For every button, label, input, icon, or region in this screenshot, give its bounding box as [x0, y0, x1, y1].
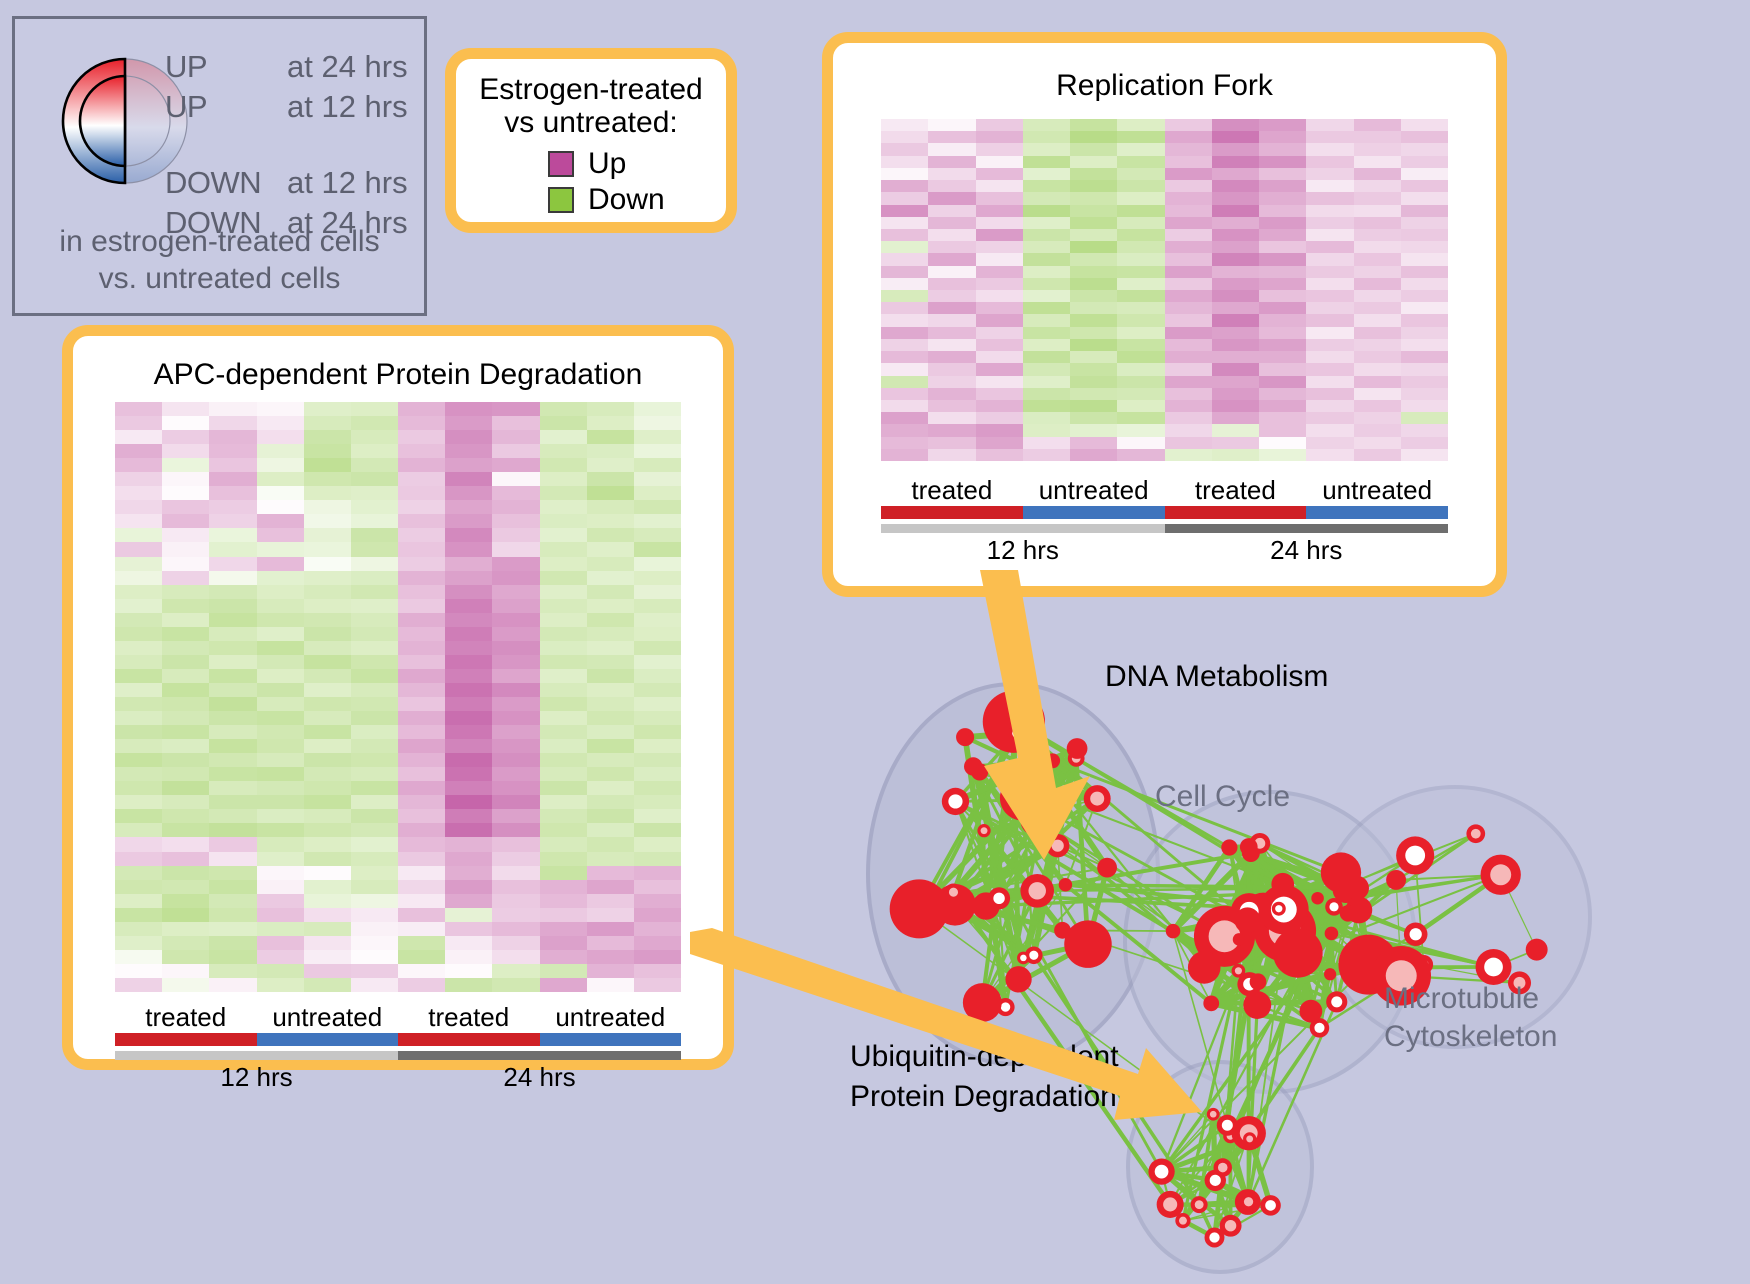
heatmap-cell — [634, 697, 681, 711]
heatmap-cell — [1306, 217, 1353, 229]
heatmap-cell — [1259, 278, 1306, 290]
heatmap-cell — [634, 739, 681, 753]
heatmap-cell — [1401, 327, 1448, 339]
network-node-core — [1410, 928, 1422, 940]
heatmap-cell — [587, 880, 634, 894]
heatmap-cell — [351, 528, 398, 542]
condition-label: untreated — [1023, 475, 1165, 506]
heatmap-cell — [634, 866, 681, 880]
heatmap-cell — [587, 571, 634, 585]
heatmap-cell — [587, 781, 634, 795]
heatmap-cell — [257, 402, 304, 416]
network-node-core — [1163, 1197, 1177, 1211]
heatmap-cell — [209, 908, 256, 922]
heatmap-cell — [1023, 229, 1070, 241]
network-node[interactable] — [1311, 892, 1324, 905]
heatmap-cell — [634, 852, 681, 866]
heatmap-cell — [209, 585, 256, 599]
heatmap-cell — [634, 978, 681, 992]
heatmap-cell — [1306, 290, 1353, 302]
heatmap-cell — [881, 376, 928, 388]
heatmap-cell — [398, 500, 445, 514]
network-node-core — [1179, 1217, 1187, 1225]
heatmap-cell — [492, 697, 539, 711]
heatmap-cell — [162, 571, 209, 585]
heatmap-cell — [1212, 229, 1259, 241]
heatmap-cell — [445, 528, 492, 542]
heatmap-cell — [115, 655, 162, 669]
network-node[interactable] — [1386, 870, 1406, 890]
condition-label: untreated — [540, 1002, 682, 1033]
heatmap-cell — [304, 641, 351, 655]
heatmap-cell — [1165, 388, 1212, 400]
heatmap-cell — [634, 402, 681, 416]
replication-fork-condition-bar — [881, 506, 1448, 519]
network-node-core — [1218, 1163, 1228, 1173]
heatmap-cell — [492, 964, 539, 978]
heatmap-cell — [398, 444, 445, 458]
heatmap-cell — [398, 894, 445, 908]
heatmap-cell — [1259, 424, 1306, 436]
network-node-core — [1471, 829, 1481, 839]
heatmap-cell — [1306, 424, 1353, 436]
heatmap-cell — [1354, 376, 1401, 388]
heatmap-cell — [257, 627, 304, 641]
heatmap-cell — [928, 266, 975, 278]
heatmap-cell — [115, 767, 162, 781]
heatmap-cell — [976, 278, 1023, 290]
heatmap-cell — [1165, 143, 1212, 155]
heatmap-cell — [587, 599, 634, 613]
heatmap-cell — [209, 627, 256, 641]
heatmap-cell — [928, 192, 975, 204]
heatmap-cell — [1259, 180, 1306, 192]
heatmap-cell — [881, 217, 928, 229]
heatmap-cell — [1117, 314, 1164, 326]
heatmap-cell — [115, 711, 162, 725]
heatmap-cell — [1165, 412, 1212, 424]
heatmap-cell — [115, 894, 162, 908]
heatmap-cell — [1023, 339, 1070, 351]
heatmap-cell — [257, 669, 304, 683]
heatmap-cell — [209, 444, 256, 458]
heatmap-cell — [540, 416, 587, 430]
condition-bar-segment — [881, 506, 1023, 519]
heatmap-cell — [115, 430, 162, 444]
heatmap-cell — [445, 641, 492, 655]
heatmap-cell — [1306, 437, 1353, 449]
heatmap-cell — [1354, 278, 1401, 290]
heatmap-cell — [1023, 131, 1070, 143]
heatmap-cell — [1212, 217, 1259, 229]
heatmap-cell — [587, 416, 634, 430]
heatmap-cell — [115, 809, 162, 823]
heatmap-cell — [1070, 180, 1117, 192]
heatmap-cell — [351, 795, 398, 809]
heatmap-cell — [1117, 376, 1164, 388]
heatmap-cell — [881, 266, 928, 278]
heatmap-cell — [587, 711, 634, 725]
heatmap-cell — [881, 437, 928, 449]
heatmap-cell — [304, 767, 351, 781]
heatmap-cell — [351, 978, 398, 992]
heatmap-cell — [257, 880, 304, 894]
heatmap-cell — [587, 627, 634, 641]
apc-time-labels: 12 hrs24 hrs — [115, 1062, 681, 1093]
color-key-direction: UP — [165, 49, 287, 85]
heatmap-cell — [587, 936, 634, 950]
heatmap-cell — [1117, 449, 1164, 461]
heatmap-cell — [1023, 253, 1070, 265]
heatmap-cell — [634, 795, 681, 809]
heatmap-cell — [1070, 290, 1117, 302]
heatmap-cell — [1401, 241, 1448, 253]
heatmap-cell — [351, 767, 398, 781]
heatmap-cell — [257, 486, 304, 500]
heatmap-cell — [1306, 314, 1353, 326]
heatmap-cell — [492, 585, 539, 599]
heatmap-cell — [881, 192, 928, 204]
heatmap-cell — [162, 837, 209, 851]
heatmap-cell — [209, 528, 256, 542]
heatmap-cell — [115, 627, 162, 641]
heatmap-cell — [492, 894, 539, 908]
heatmap-cell — [1354, 253, 1401, 265]
heatmap-cell — [540, 852, 587, 866]
heatmap-cell — [928, 253, 975, 265]
heatmap-cell — [1023, 119, 1070, 131]
heatmap-cell — [257, 908, 304, 922]
heatmap-cell — [115, 486, 162, 500]
heatmap-cell — [928, 241, 975, 253]
network-node-core — [1331, 996, 1342, 1007]
heatmap-cell — [115, 795, 162, 809]
heatmap-cell — [304, 458, 351, 472]
heatmap-cell — [445, 472, 492, 486]
heatmap-cell — [1212, 143, 1259, 155]
heatmap-cell — [634, 599, 681, 613]
heatmap-cell — [257, 823, 304, 837]
heatmap-cell — [351, 571, 398, 585]
legend-label-down: Down — [588, 183, 665, 217]
heatmap-cell — [209, 880, 256, 894]
network-node[interactable] — [1526, 939, 1548, 961]
heatmap-cell — [492, 683, 539, 697]
heatmap-cell — [976, 143, 1023, 155]
heatmap-cell — [257, 458, 304, 472]
heatmap-cell — [257, 416, 304, 430]
heatmap-cell — [398, 528, 445, 542]
heatmap-cell — [634, 416, 681, 430]
heatmap-cell — [1023, 302, 1070, 314]
heatmap-cell — [257, 781, 304, 795]
heatmap-cell — [162, 528, 209, 542]
replication-fork-time-bar — [881, 524, 1448, 533]
heatmap-cell — [304, 866, 351, 880]
heatmap-cell — [209, 753, 256, 767]
heatmap-cell — [1306, 143, 1353, 155]
heatmap-cell — [881, 143, 928, 155]
heatmap-cell — [587, 697, 634, 711]
heatmap-cell — [398, 585, 445, 599]
network-node[interactable] — [1059, 878, 1072, 891]
heatmap-cell — [1354, 351, 1401, 363]
heatmap-cell — [1070, 412, 1117, 424]
heatmap-cell — [304, 950, 351, 964]
heatmap-cell — [115, 458, 162, 472]
heatmap-cell — [1401, 437, 1448, 449]
heatmap-cell — [1212, 241, 1259, 253]
heatmap-cell — [115, 697, 162, 711]
legend-item-up: Up — [548, 146, 726, 182]
heatmap-cell — [540, 767, 587, 781]
heatmap-cell — [1212, 424, 1259, 436]
heatmap-cell — [351, 866, 398, 880]
network-node[interactable] — [1273, 928, 1323, 978]
heatmap-cell — [492, 837, 539, 851]
heatmap-cell — [634, 430, 681, 444]
heatmap-cell — [257, 641, 304, 655]
heatmap-cell — [115, 922, 162, 936]
heatmap-cell — [398, 416, 445, 430]
heatmap-cell — [540, 837, 587, 851]
heatmap-cell — [1212, 363, 1259, 375]
color-key-footer-line2: vs. untreated cells — [15, 261, 424, 298]
condition-bar-segment — [1023, 506, 1165, 519]
heatmap-cell — [634, 767, 681, 781]
heatmap-cell — [1070, 327, 1117, 339]
heatmap-cell — [587, 964, 634, 978]
heatmap-cell — [881, 119, 928, 131]
heatmap-cell — [1165, 363, 1212, 375]
network-node[interactable] — [1221, 839, 1237, 855]
heatmap-cell — [398, 781, 445, 795]
apc-time-bar — [115, 1051, 681, 1060]
heatmap-cell — [492, 599, 539, 613]
heatmap-cell — [928, 437, 975, 449]
heatmap-cell — [304, 486, 351, 500]
heatmap-cell — [257, 613, 304, 627]
heatmap-cell — [445, 613, 492, 627]
heatmap-cell — [587, 514, 634, 528]
heatmap-cell — [445, 402, 492, 416]
heatmap-cell — [1212, 400, 1259, 412]
heatmap-cell — [1259, 156, 1306, 168]
heatmap-cell — [634, 669, 681, 683]
heatmap-cell — [398, 964, 445, 978]
heatmap-cell — [1259, 437, 1306, 449]
heatmap-cell — [928, 363, 975, 375]
heatmap-cell — [351, 585, 398, 599]
color-key-box: UP at 24 hrs UP at 12 hrs DOWN at 12 hrs… — [12, 16, 427, 316]
heatmap-cell — [351, 641, 398, 655]
heatmap-cell — [1165, 266, 1212, 278]
time-label: 24 hrs — [1165, 535, 1449, 566]
heatmap-cell — [1401, 180, 1448, 192]
heatmap-cell — [1401, 217, 1448, 229]
network-node[interactable] — [1345, 876, 1369, 900]
heatmap-cell — [257, 725, 304, 739]
heatmap-cell — [1306, 388, 1353, 400]
heatmap-cell — [304, 557, 351, 571]
heatmap-cell — [540, 908, 587, 922]
heatmap-cell — [209, 514, 256, 528]
heatmap-cell — [976, 412, 1023, 424]
heatmap-cell — [634, 542, 681, 556]
heatmap-cell — [928, 327, 975, 339]
heatmap-cell — [1165, 314, 1212, 326]
heatmap-cell — [398, 669, 445, 683]
heatmap-cell — [881, 302, 928, 314]
legend-item-down: Down — [548, 182, 726, 218]
heatmap-cell — [1212, 156, 1259, 168]
heatmap-cell — [1023, 351, 1070, 363]
heatmap-cell — [1165, 278, 1212, 290]
heatmap-cell — [257, 585, 304, 599]
heatmap-cell — [634, 613, 681, 627]
heatmap-cell — [1354, 437, 1401, 449]
heatmap-cell — [1117, 339, 1164, 351]
heatmap-cell — [162, 627, 209, 641]
heatmap-cell — [1212, 437, 1259, 449]
heatmap-cell — [351, 486, 398, 500]
heatmap-cell — [445, 922, 492, 936]
heatmap-cell — [445, 894, 492, 908]
heatmap-cell — [492, 486, 539, 500]
heatmap-cell — [1259, 339, 1306, 351]
heatmap-cell — [115, 936, 162, 950]
heatmap-cell — [351, 500, 398, 514]
heatmap-cell — [976, 290, 1023, 302]
network-node[interactable] — [1240, 838, 1258, 856]
heatmap-cell — [1212, 192, 1259, 204]
heatmap-cell — [976, 302, 1023, 314]
heatmap-cell — [304, 500, 351, 514]
heatmap-cell — [398, 458, 445, 472]
heatmap-cell — [1212, 205, 1259, 217]
heatmap-cell — [634, 823, 681, 837]
heatmap-cell — [209, 711, 256, 725]
heatmap-cell — [1117, 351, 1164, 363]
network-node[interactable] — [1250, 973, 1267, 990]
color-key-rows: UP at 24 hrs UP at 12 hrs DOWN at 12 hrs… — [165, 49, 408, 245]
network-node[interactable] — [1299, 1000, 1322, 1023]
heatmap-cell — [587, 402, 634, 416]
network-node[interactable] — [1340, 905, 1357, 922]
heatmap-cell — [976, 180, 1023, 192]
heatmap-cell — [1401, 412, 1448, 424]
heatmap-cell — [881, 449, 928, 461]
heatmap-cell — [540, 880, 587, 894]
heatmap-cell — [492, 753, 539, 767]
heatmap-cell — [209, 950, 256, 964]
heatmap-cell — [540, 500, 587, 514]
heatmap-cell — [209, 683, 256, 697]
heatmap-cell — [1354, 339, 1401, 351]
heatmap-cell — [162, 908, 209, 922]
heatmap-cell — [634, 585, 681, 599]
heatmap-cell — [445, 795, 492, 809]
heatmap-cell — [587, 753, 634, 767]
network-node[interactable] — [1324, 968, 1336, 980]
heatmap-cell — [492, 978, 539, 992]
heatmap-cell — [1212, 131, 1259, 143]
heatmap-cell — [209, 458, 256, 472]
heatmap-cell — [928, 424, 975, 436]
heatmap-cell — [351, 669, 398, 683]
heatmap-cell — [398, 866, 445, 880]
cluster-label-microtubule-line2: Cytoskeleton — [1384, 1020, 1557, 1054]
heatmap-cell — [445, 964, 492, 978]
heatmap-cell — [351, 458, 398, 472]
heatmap-cell — [1259, 168, 1306, 180]
heatmap-cell — [540, 528, 587, 542]
heatmap-cell — [398, 725, 445, 739]
replication-fork-time-labels: 12 hrs24 hrs — [881, 535, 1448, 566]
heatmap-cell — [540, 936, 587, 950]
network-node-core — [1329, 902, 1338, 911]
heatmap-cell — [162, 894, 209, 908]
heatmap-cell — [587, 837, 634, 851]
heatmap-cell — [587, 725, 634, 739]
heatmap-cell — [928, 229, 975, 241]
heatmap-cell — [398, 472, 445, 486]
heatmap-cell — [351, 823, 398, 837]
heatmap-cell — [1212, 290, 1259, 302]
heatmap-cell — [1401, 192, 1448, 204]
heatmap-cell — [398, 936, 445, 950]
heatmap-cell — [398, 908, 445, 922]
heatmap-cell — [1023, 217, 1070, 229]
network-node[interactable] — [1325, 927, 1339, 941]
heatmap-cell — [257, 894, 304, 908]
heatmap-cell — [1165, 131, 1212, 143]
heatmap-cell — [881, 314, 928, 326]
heatmap-cell — [1070, 314, 1117, 326]
heatmap-cell — [1070, 376, 1117, 388]
heatmap-cell — [976, 253, 1023, 265]
heatmap-cell — [304, 627, 351, 641]
heatmap-cell — [209, 767, 256, 781]
heatmap-cell — [351, 514, 398, 528]
heatmap-cell — [1212, 351, 1259, 363]
heatmap-cell — [209, 739, 256, 753]
network-node-core — [1209, 1232, 1219, 1242]
heatmap-cell — [1306, 253, 1353, 265]
heatmap-cell — [162, 809, 209, 823]
heatmap-cell — [445, 781, 492, 795]
heatmap-cell — [540, 809, 587, 823]
apc-degradation-heatmap — [115, 402, 681, 992]
heatmap-cell — [1259, 400, 1306, 412]
heatmap-cell — [162, 922, 209, 936]
heatmap-cell — [1212, 302, 1259, 314]
heatmap-cell — [1401, 351, 1448, 363]
heatmap-cell — [445, 655, 492, 669]
heatmap-cell — [398, 837, 445, 851]
heatmap-cell — [445, 866, 492, 880]
heatmap-cell — [1259, 143, 1306, 155]
heatmap-cell — [445, 809, 492, 823]
condition-label: treated — [115, 1002, 257, 1033]
heatmap-cell — [1023, 314, 1070, 326]
time-bar-segment — [398, 1051, 681, 1060]
heatmap-cell — [209, 837, 256, 851]
heatmap-cell — [1259, 131, 1306, 143]
heatmap-cell — [1401, 363, 1448, 375]
heatmap-cell — [1354, 327, 1401, 339]
heatmap-cell — [976, 314, 1023, 326]
